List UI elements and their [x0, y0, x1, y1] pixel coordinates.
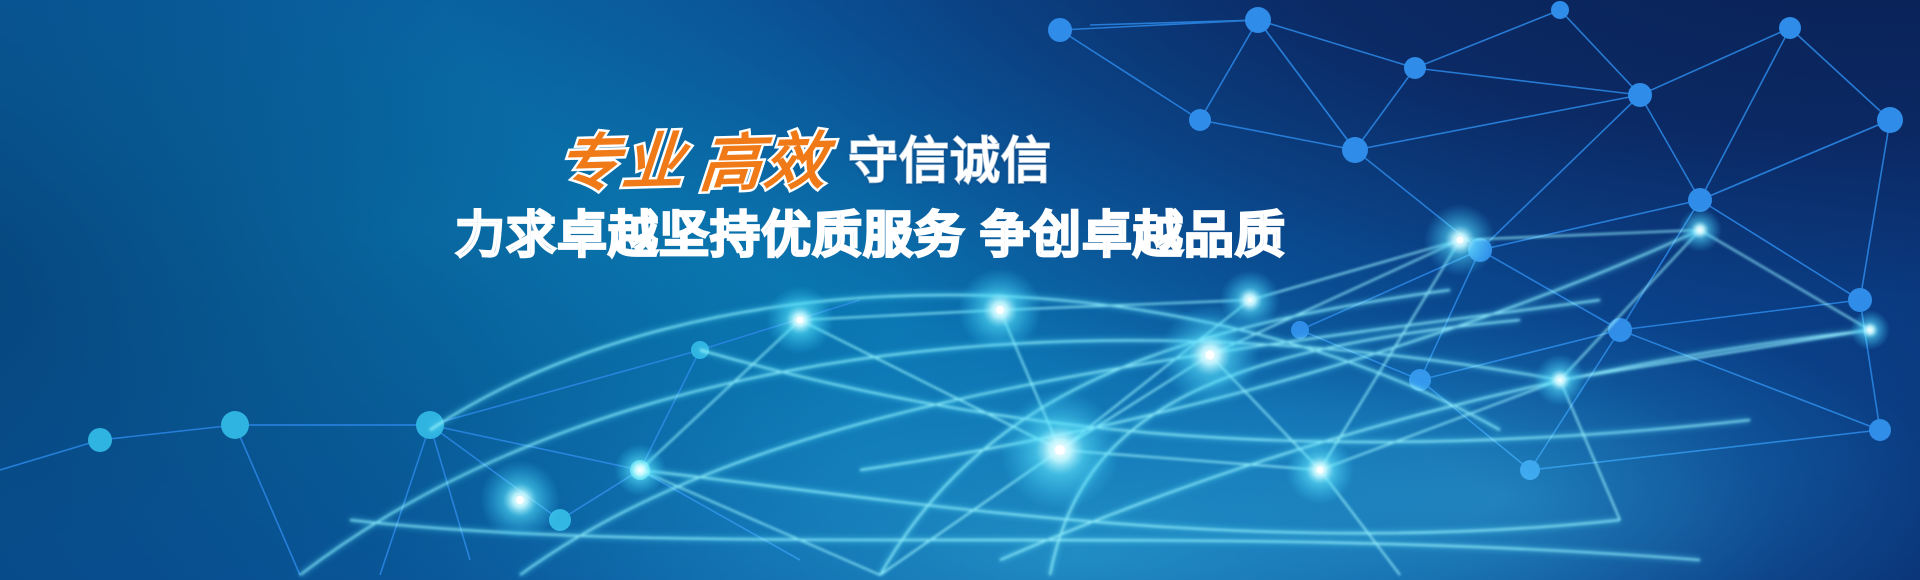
- headline-keyword-3: 守信诚信: [848, 136, 1052, 186]
- subline-text: 力求卓越坚持优质服务 争创卓越品质: [455, 210, 1155, 260]
- headline-keyword-2: 高效: [697, 130, 830, 195]
- promo-banner: 专业高效守信诚信 力求卓越坚持优质服务 争创卓越品质: [0, 0, 1920, 580]
- headline-line: 专业高效守信诚信: [455, 132, 1155, 196]
- headline-keyword-1: 专业: [555, 130, 688, 195]
- glow-network-graphic: [0, 0, 1920, 580]
- slogan-block: 专业高效守信诚信 力求卓越坚持优质服务 争创卓越品质: [455, 132, 1155, 260]
